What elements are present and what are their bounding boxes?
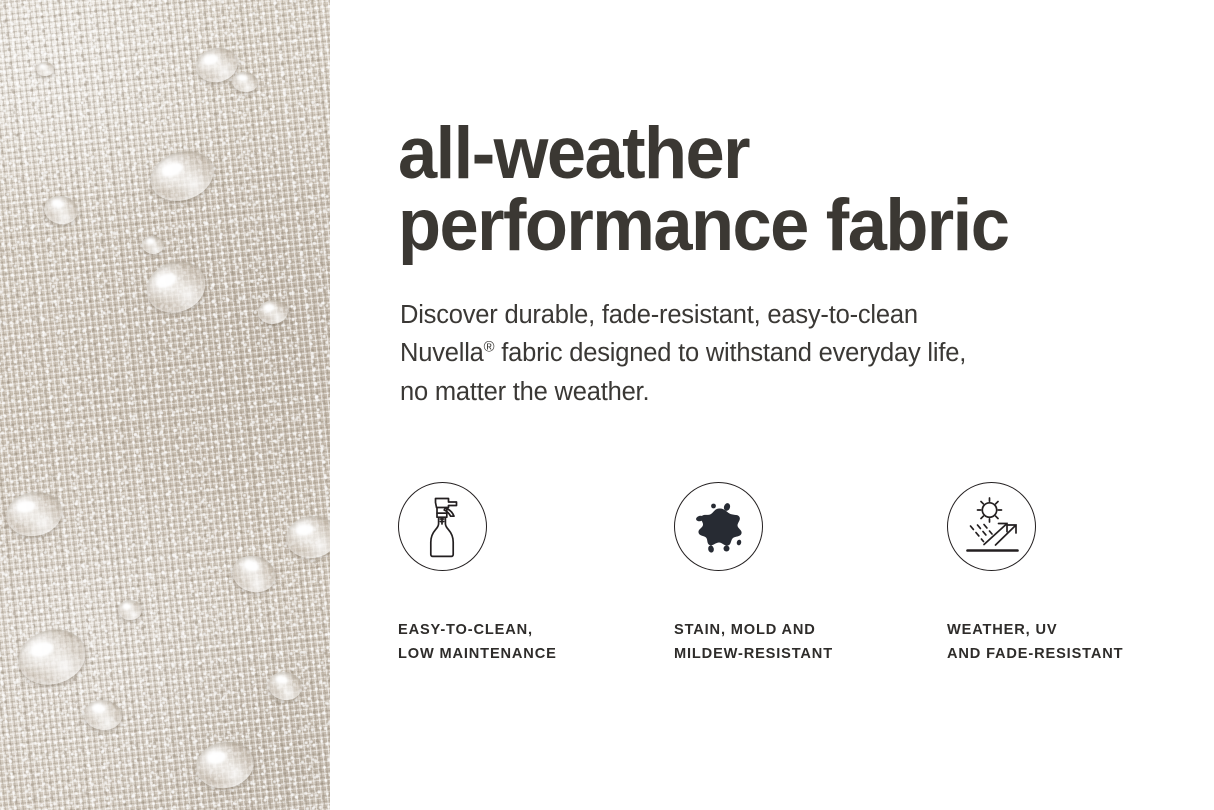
feature-caption: STAIN, MOLD AND MILDEW-RESISTANT — [674, 619, 924, 666]
content-panel: all-weather performance fabric Discover … — [398, 0, 1188, 810]
brand-name: Nuvella — [400, 339, 484, 367]
page-title: all-weather performance fabric — [398, 118, 1160, 261]
registered-trademark-icon: ® — [484, 340, 495, 356]
feature-item-stain-resistant: STAIN, MOLD AND MILDEW-RESISTANT — [674, 482, 924, 666]
fabric-photo — [0, 0, 330, 810]
sun-uv-reflect-icon — [947, 482, 1036, 571]
description-line-2: fabric designed to withstand everyday li… — [494, 339, 966, 367]
feature-item-easy-to-clean: EASY-TO-CLEAN, LOW MAINTENANCE — [398, 482, 648, 666]
description-line-3: no matter the weather. — [400, 378, 649, 406]
feature-item-uv-resistant: WEATHER, UV AND FADE-RESISTANT — [947, 482, 1197, 666]
water-droplet — [36, 62, 54, 76]
promo-banner: all-weather performance fabric Discover … — [0, 0, 1214, 810]
description-line-1: Discover durable, fade-resistant, easy-t… — [400, 301, 918, 329]
description-paragraph: Discover durable, fade-resistant, easy-t… — [400, 296, 1160, 411]
stain-splatter-icon — [674, 482, 763, 571]
water-droplet — [118, 600, 142, 620]
feature-caption: EASY-TO-CLEAN, LOW MAINTENANCE — [398, 619, 648, 666]
spray-bottle-icon — [398, 482, 487, 571]
feature-caption: WEATHER, UV AND FADE-RESISTANT — [947, 619, 1197, 666]
